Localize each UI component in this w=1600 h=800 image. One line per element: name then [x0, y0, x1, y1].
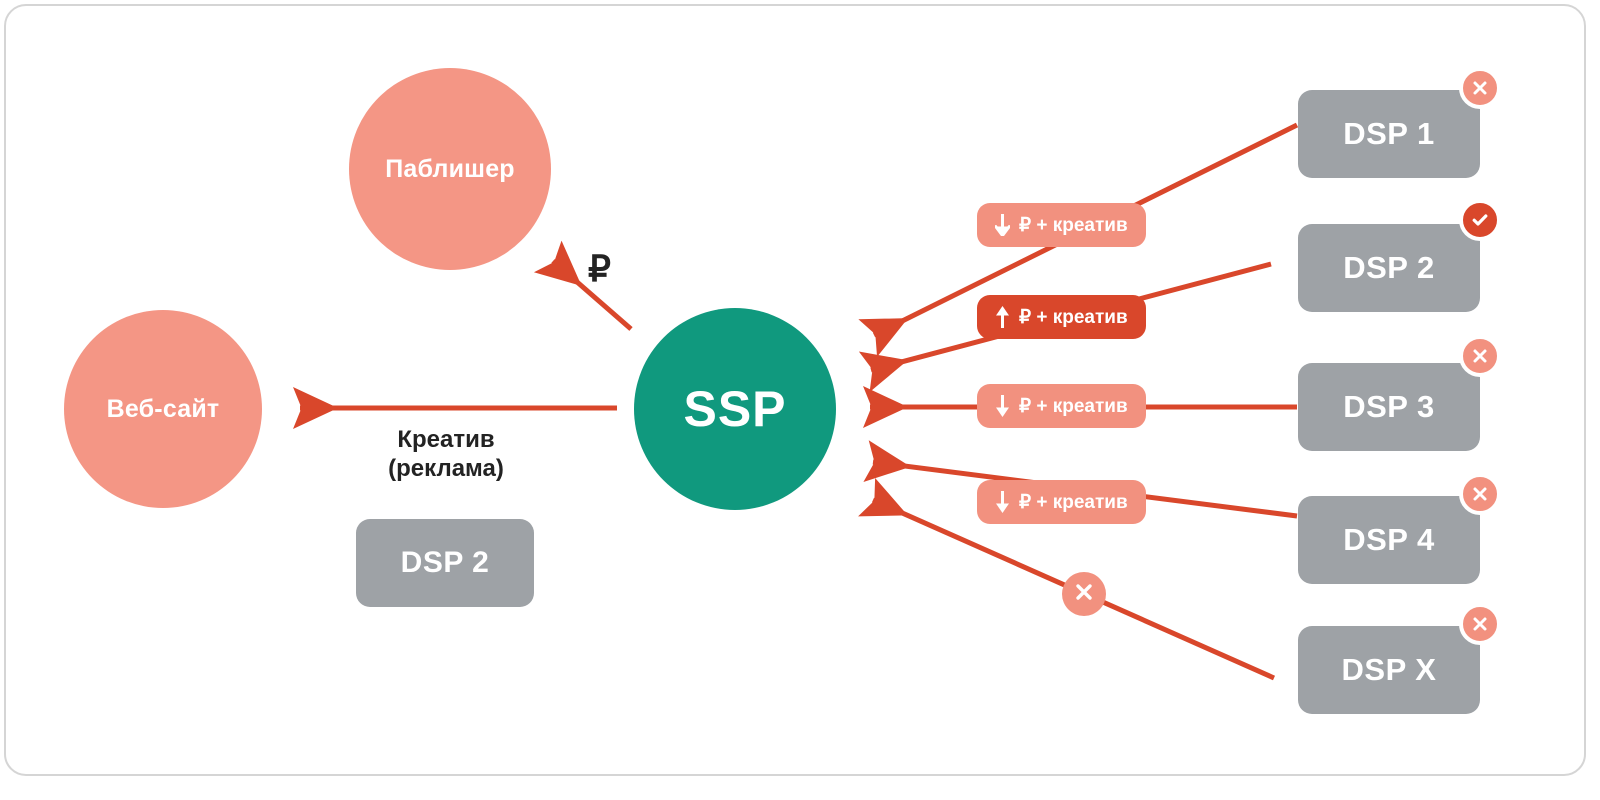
bid-pill-dsp3[interactable]: ₽ + креатив: [977, 384, 1146, 428]
dsp-box-4[interactable]: DSP 4: [1298, 496, 1480, 584]
arrow-down-icon: [995, 395, 1010, 417]
node-publisher-label: Паблишер: [385, 155, 515, 184]
dsp-box-1-label: DSP 1: [1343, 116, 1435, 152]
dsp-box-3-label: DSP 3: [1343, 389, 1435, 425]
dsp-box-x[interactable]: DSP X: [1298, 626, 1480, 714]
bid-pill-dsp1-text: ₽ + креатив: [1019, 216, 1128, 235]
node-website[interactable]: Веб-сайт: [64, 310, 262, 508]
winning-dsp-box[interactable]: DSP 2: [356, 519, 534, 607]
bid-pill-dsp4-text: ₽ + креатив: [1019, 493, 1128, 512]
close-icon: [1075, 583, 1093, 606]
arrow-down-icon: [995, 214, 1010, 236]
arrow-down-icon: [995, 491, 1010, 513]
creative-label-line1: Креатив: [336, 425, 556, 454]
dsp-box-4-label: DSP 4: [1343, 522, 1435, 558]
dsp-box-x-label: DSP X: [1342, 652, 1437, 688]
bid-pill-dsp3-text: ₽ + креатив: [1019, 397, 1128, 416]
node-ssp[interactable]: SSP: [634, 308, 836, 510]
bid-pill-dsp2[interactable]: ₽ + креатив: [977, 295, 1146, 339]
dsp-box-1[interactable]: DSP 1: [1298, 90, 1480, 178]
creative-label-line2: (реклама): [336, 454, 556, 483]
bid-pill-dsp1[interactable]: ₽ + креатив: [977, 203, 1146, 247]
dsp-badge-x[interactable]: [1459, 603, 1501, 645]
money-label: ₽: [588, 247, 611, 291]
close-icon: [1472, 348, 1488, 364]
node-ssp-label: SSP: [683, 380, 786, 438]
dsp-box-3[interactable]: DSP 3: [1298, 363, 1480, 451]
blocked-edge-marker: [1062, 572, 1106, 616]
dsp-badge-1[interactable]: [1459, 67, 1501, 109]
dsp-badge-2[interactable]: [1459, 199, 1501, 241]
creative-label: Креатив (реклама): [336, 425, 556, 484]
check-icon: [1471, 211, 1489, 229]
node-publisher[interactable]: Паблишер: [349, 68, 551, 270]
bid-pill-dsp4[interactable]: ₽ + креатив: [977, 480, 1146, 524]
bid-pill-dsp2-text: ₽ + креатив: [1019, 308, 1128, 327]
dsp-box-2-label: DSP 2: [1343, 250, 1435, 286]
close-icon: [1472, 486, 1488, 502]
winning-dsp-label: DSP 2: [401, 546, 490, 580]
dsp-badge-3[interactable]: [1459, 335, 1501, 377]
arrow-up-icon: [995, 306, 1010, 328]
dsp-badge-4[interactable]: [1459, 473, 1501, 515]
diagram-canvas: Паблишер Веб-сайт SSP DSP 2 ₽ Креатив (р…: [0, 0, 1600, 800]
close-icon: [1472, 616, 1488, 632]
node-website-label: Веб-сайт: [107, 395, 220, 424]
close-icon: [1472, 80, 1488, 96]
dsp-box-2[interactable]: DSP 2: [1298, 224, 1480, 312]
